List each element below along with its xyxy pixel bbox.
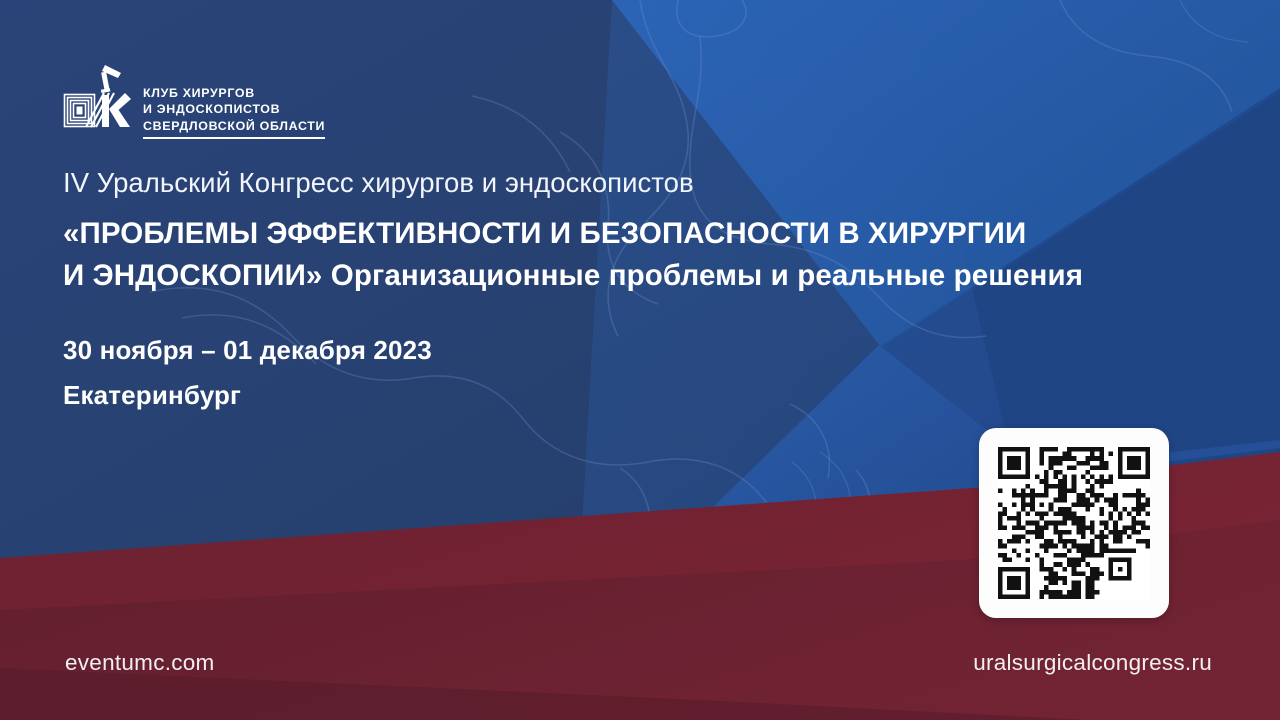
- logo-underline: [143, 137, 325, 139]
- congress-poster: КЛУБ ХИРУРГОВ И ЭНДОСКОПИСТОВ СВЕРДЛОВСК…: [0, 0, 1280, 720]
- poster-text-block: IV Уральский Конгресс хирургов и эндоско…: [63, 168, 1083, 408]
- event-city: Екатеринбург: [63, 382, 1083, 408]
- site-link-eventumc[interactable]: eventumc.com: [65, 650, 215, 676]
- theme-line-2-subtitle: Организационные проблемы и реальные реше…: [331, 259, 1083, 292]
- qr-code-card[interactable]: [979, 428, 1169, 618]
- logo-line-3: СВЕРДЛОВСКОЙ ОБЛАСТИ: [143, 118, 325, 135]
- club-logo: КЛУБ ХИРУРГОВ И ЭНДОСКОПИСТОВ СВЕРДЛОВСК…: [62, 63, 325, 149]
- event-dates: 30 ноября – 01 декабря 2023: [63, 337, 1083, 363]
- logo-wordmark: КЛУБ ХИРУРГОВ И ЭНДОСКОПИСТОВ СВЕРДЛОВСК…: [143, 85, 325, 149]
- theme-line-2-quoted: И ЭНДОСКОПИИ»: [63, 259, 322, 292]
- congress-name: IV Уральский Конгресс хирургов и эндоско…: [63, 168, 1083, 199]
- logo-line-1: КЛУБ ХИРУРГОВ: [143, 85, 325, 102]
- site-link-congress[interactable]: uralsurgicalcongress.ru: [973, 650, 1212, 676]
- logo-line-2: И ЭНДОСКОПИСТОВ: [143, 101, 325, 118]
- congress-theme: «ПРОБЛЕМЫ ЭФФЕКТИВНОСТИ И БЕЗОПАСНОСТИ В…: [63, 213, 1083, 297]
- qr-code[interactable]: [998, 447, 1150, 599]
- surgeons-club-emblem-icon: [62, 63, 134, 149]
- theme-line-1: «ПРОБЛЕМЫ ЭФФЕКТИВНОСТИ И БЕЗОПАСНОСТИ В…: [63, 217, 1026, 250]
